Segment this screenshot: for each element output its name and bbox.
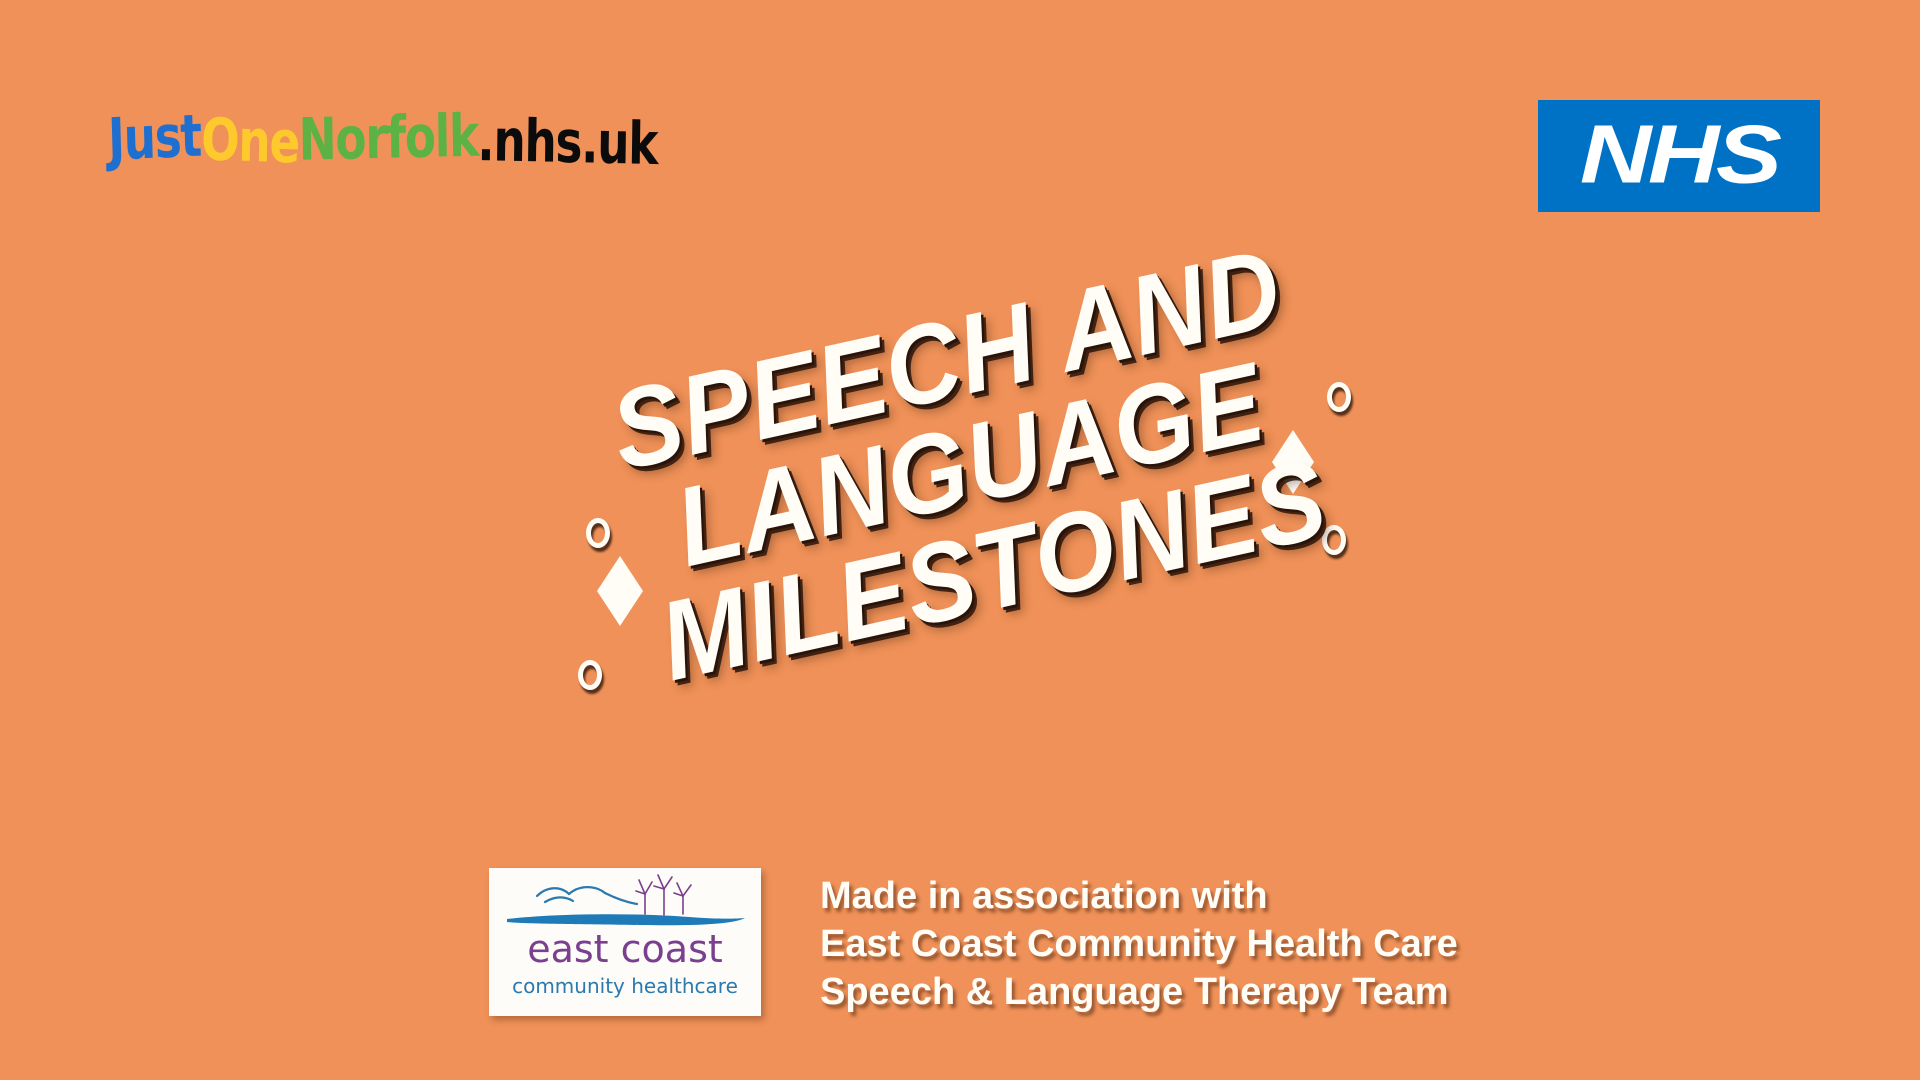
- east-coast-logo-name: east coast: [489, 930, 761, 968]
- wind-turbine-group: [636, 875, 691, 915]
- justonenorfolk-wordmark[interactable]: JustOneNorfolk.nhs.uk: [108, 108, 658, 166]
- wordmark-part-one: One: [200, 111, 299, 173]
- title-card-canvas: JustOneNorfolk.nhs.uk NHS SPEECH AND LAN…: [0, 0, 1920, 1080]
- east-coast-logo-artwork: [489, 874, 761, 932]
- wordmark-part-just: Just: [107, 107, 201, 169]
- wordmark-part-tld: .nhs.uk: [477, 111, 657, 173]
- page-title: SPEECH AND LANGUAGE MILESTONES: [446, 196, 1494, 735]
- sea-band: [507, 914, 745, 925]
- credits-line-2: East Coast Community Health Care: [820, 920, 1458, 968]
- wordmark-part-norfolk: Norfolk: [298, 107, 478, 169]
- credits-line-1: Made in association with: [820, 872, 1458, 920]
- nhs-logo-text: NHS: [1580, 113, 1779, 195]
- nhs-logo: NHS: [1538, 100, 1820, 212]
- east-coast-community-healthcare-logo: east coast community healthcare: [489, 868, 761, 1016]
- credits-line-3: Speech & Language Therapy Team: [820, 968, 1458, 1016]
- east-coast-logo-subtitle: community healthcare: [489, 976, 761, 996]
- credits-block: Made in association with East Coast Comm…: [820, 872, 1458, 1016]
